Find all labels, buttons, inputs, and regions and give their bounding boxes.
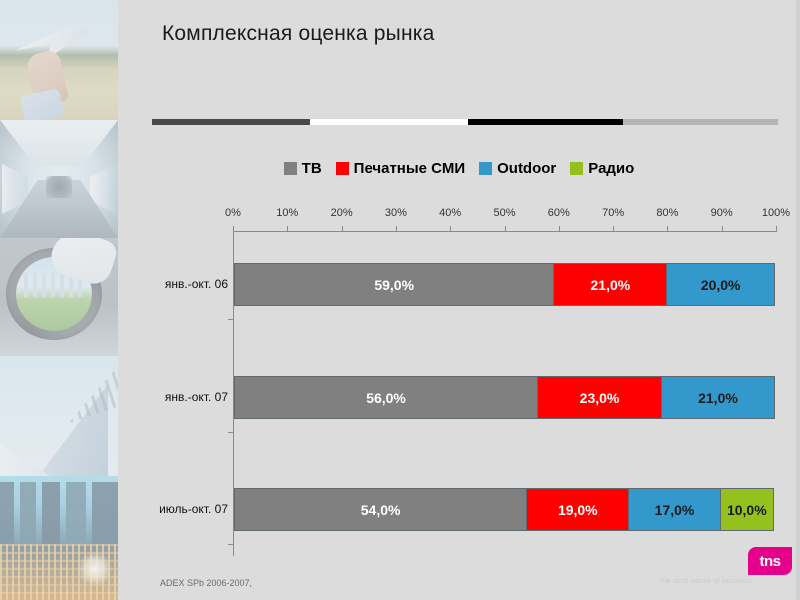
x-axis-tickmark [667,226,668,231]
x-axis-tick-label: 90% [711,207,733,219]
x-axis-tick-label: 40% [439,207,461,219]
tns-tagline: the sixth sense of business [660,578,752,585]
y-axis-tickmark [228,432,233,433]
y-axis-tickmark [228,544,233,545]
bar-segment[interactable]: 54,0% [234,488,527,531]
x-axis-tick-label: 50% [493,207,515,219]
bar-row[interactable]: 54,0%19,0%17,0%10,0% [234,488,777,531]
bar-segment[interactable]: 21,0% [553,263,667,306]
x-axis-tickmark [613,226,614,231]
right-edge-strip [796,0,800,600]
x-axis-tick-label: 100% [762,207,790,219]
bar-segment[interactable]: 59,0% [234,263,554,306]
x-axis-tickmark [722,226,723,231]
x-axis-tick-label: 60% [548,207,570,219]
x-axis-tick-label: 30% [385,207,407,219]
x-axis-tick-label: 0% [225,207,241,219]
tns-logo: tns [748,547,792,575]
category-label: янв.-окт. 06 [118,277,228,291]
x-axis-tick-label: 10% [276,207,298,219]
bar-segment[interactable]: 56,0% [234,376,538,419]
x-axis-tickmark [450,226,451,231]
x-axis-tick-labels: 0%10%20%30%40%50%60%70%80%90%100% [233,207,776,223]
category-label: янв.-окт. 07 [118,390,228,404]
x-axis-tickmark [776,226,777,231]
y-axis-tickmark [228,319,233,320]
x-axis-tickmark [287,226,288,231]
x-axis-tickmark [396,226,397,231]
bar-segment[interactable]: 21,0% [661,376,775,419]
x-axis-tickmark [559,226,560,231]
category-label: июль-окт. 07 [118,502,228,516]
bar-segment[interactable]: 23,0% [537,376,662,419]
x-axis-tickmark [505,226,506,231]
x-axis-tickmark [342,226,343,231]
x-axis-tickmark [233,226,234,231]
x-axis-line [233,231,777,232]
bar-row[interactable]: 56,0%23,0%21,0% [234,376,777,419]
bar-segment[interactable]: 20,0% [666,263,775,306]
slide-canvas: Комплексная оценка рынка ТВПечатные СМИO… [0,0,800,600]
x-axis-tick-label: 20% [331,207,353,219]
bar-segment[interactable]: 19,0% [526,488,629,531]
x-axis-tick-label: 80% [656,207,678,219]
bar-row[interactable]: 59,0%21,0%20,0% [234,263,777,306]
bar-segment[interactable]: 17,0% [628,488,720,531]
chart-plot-area: 0%10%20%30%40%50%60%70%80%90%100% 59,0%2… [0,0,800,600]
bar-segment[interactable]: 10,0% [720,488,774,531]
source-note: ADEX SPb 2006-2007, [160,578,252,588]
x-axis-tick-label: 70% [602,207,624,219]
